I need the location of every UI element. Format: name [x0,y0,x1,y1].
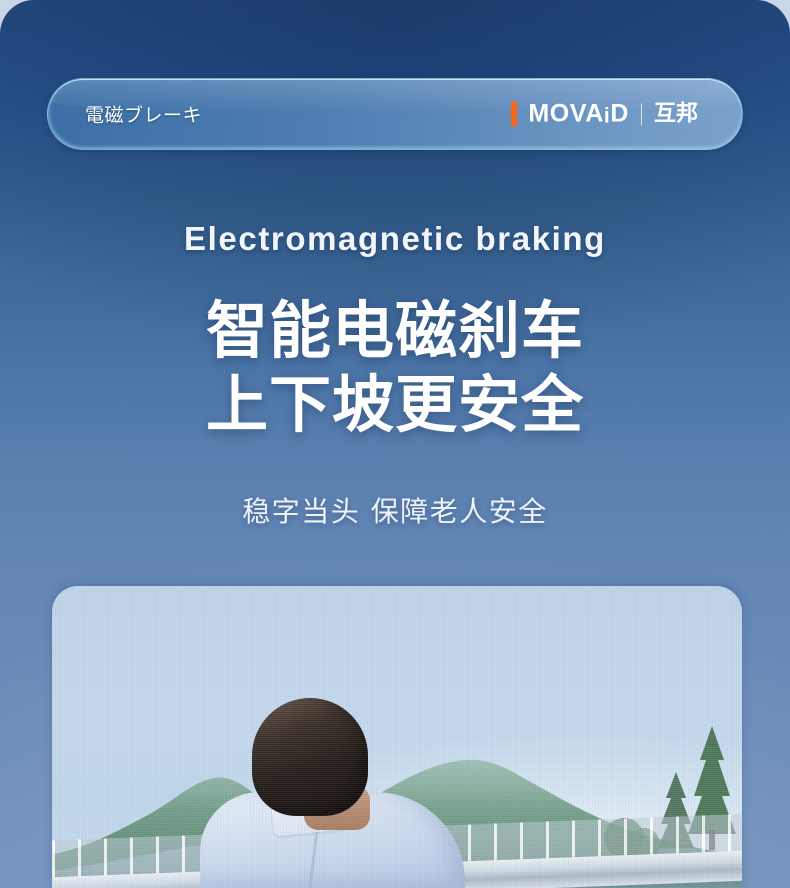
person-figure [200,708,465,888]
hero-photo-card [52,586,742,888]
hero-chinese-title-line1: 智能电磁刹车 [0,294,790,368]
header-badge: 電磁ブレーキ MOVAiD 互邦 [47,78,743,150]
hero-chinese-title: 智能电磁刹车 上下坡更安全 [0,294,790,442]
brand-name-i: i [604,105,610,128]
brand-name-part1: MOVA [528,100,604,128]
person-hair [252,698,368,816]
hero-english-title: Electromagnetic braking [0,220,790,258]
brand-name-chinese: 互邦 [654,103,698,125]
header-badge-pill: 電磁ブレーキ MOVAiD 互邦 [47,78,743,150]
hero-chinese-subtitle: 稳字当头 保障老人安全 [0,490,790,530]
brand-name-latin: MOVAiD [528,102,629,127]
brand-name-part2: D [610,100,629,128]
brand-logo: MOVAiD 互邦 [511,102,698,127]
promo-page: 電磁ブレーキ MOVAiD 互邦 Electromagnetic braking… [0,0,790,888]
brand-divider [641,103,642,125]
orange-accent-bar-icon [511,102,517,127]
header-badge-label: 電磁ブレーキ [85,101,202,128]
hero-chinese-title-line2: 上下坡更安全 [0,368,790,442]
